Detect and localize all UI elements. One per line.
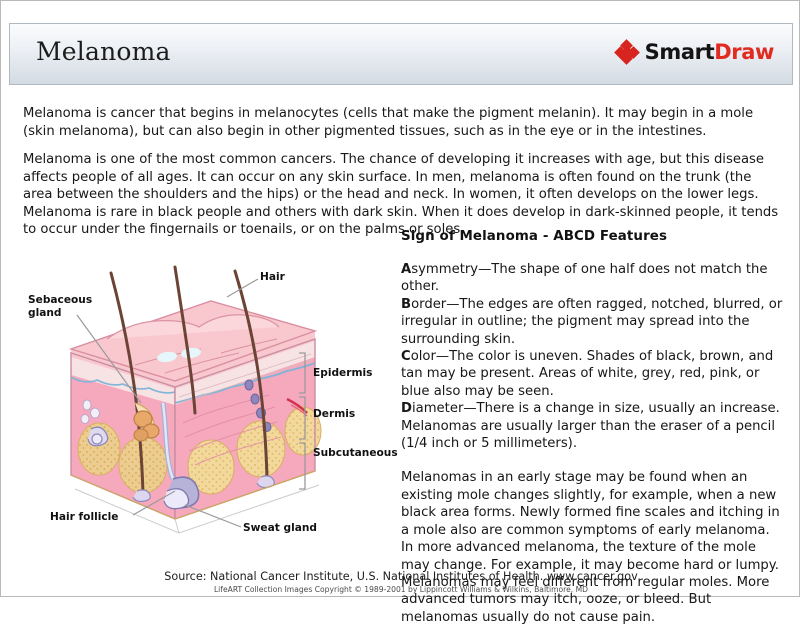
page-title: Melanoma xyxy=(36,37,171,66)
abcd-feature-item: Asymmetry—The shape of one half does not… xyxy=(401,262,768,294)
features-heading: Sign of Melanoma - ABCD Features xyxy=(401,229,783,244)
abcd-feature-item: Color—The color is uneven. Shades of bla… xyxy=(401,349,773,399)
abcd-feature-initial: D xyxy=(401,401,412,416)
diagram-label-sweat-gland: Sweat gland xyxy=(243,522,317,535)
abcd-feature-item: Diameter—There is a change in size, usua… xyxy=(401,401,780,451)
red-diamond-cluster-icon xyxy=(616,41,638,63)
diagram-label-hair-follicle: Hair follicle xyxy=(50,511,118,524)
footer-source: Source: National Cancer Institute, U.S. … xyxy=(1,570,800,583)
abcd-feature-initial: A xyxy=(401,262,411,277)
abcd-feature-text: iameter—There is a change in size, usual… xyxy=(401,401,780,451)
logo-smart-text: Smart xyxy=(645,40,715,64)
intro-paragraph-1: Melanoma is cancer that begins in melano… xyxy=(23,105,783,140)
diagram-label-dermis: Dermis xyxy=(313,408,355,421)
abcd-feature-initial: B xyxy=(401,297,411,312)
diagram-label-epidermis: Epidermis xyxy=(313,367,372,380)
abcd-feature-text: olor—The color is uneven. Shades of blac… xyxy=(401,349,773,399)
abcd-feature-initial: C xyxy=(401,349,411,364)
footer-copyright: LifeART Collection Images Copyright © 19… xyxy=(1,585,800,594)
features-closing-paragraph: Melanomas in an early stage may be found… xyxy=(401,469,783,626)
skin-cross-section-diagram: Hair Sebaceous gland Epidermis Dermis Su… xyxy=(15,253,401,549)
diagram-label-hair: Hair xyxy=(260,271,285,284)
abcd-feature-text: symmetry—The shape of one half does not … xyxy=(401,262,768,294)
diagram-label-subcutaneous: Subcutaneous xyxy=(313,447,398,460)
document-page: Melanoma SmartDraw Melanoma is cancer th… xyxy=(0,0,800,597)
intro-paragraph-2: Melanoma is one of the most common cance… xyxy=(23,151,783,239)
diagram-label-sebaceous-gland: Sebaceous gland xyxy=(28,294,92,319)
smartdraw-logo: SmartDraw xyxy=(616,40,774,64)
abcd-feature-text: order—The edges are often ragged, notche… xyxy=(401,297,782,347)
abcd-feature-item: Border—The edges are often ragged, notch… xyxy=(401,297,782,347)
page-header: Melanoma SmartDraw xyxy=(9,23,793,85)
abcd-features-column: Sign of Melanoma - ABCD Features Asymmet… xyxy=(401,229,783,626)
abcd-feature-list: Asymmetry—The shape of one half does not… xyxy=(401,261,783,452)
sweat-gland-left xyxy=(88,427,108,446)
logo-draw-text: Draw xyxy=(714,40,774,64)
logo-wordmark: SmartDraw xyxy=(645,40,774,64)
